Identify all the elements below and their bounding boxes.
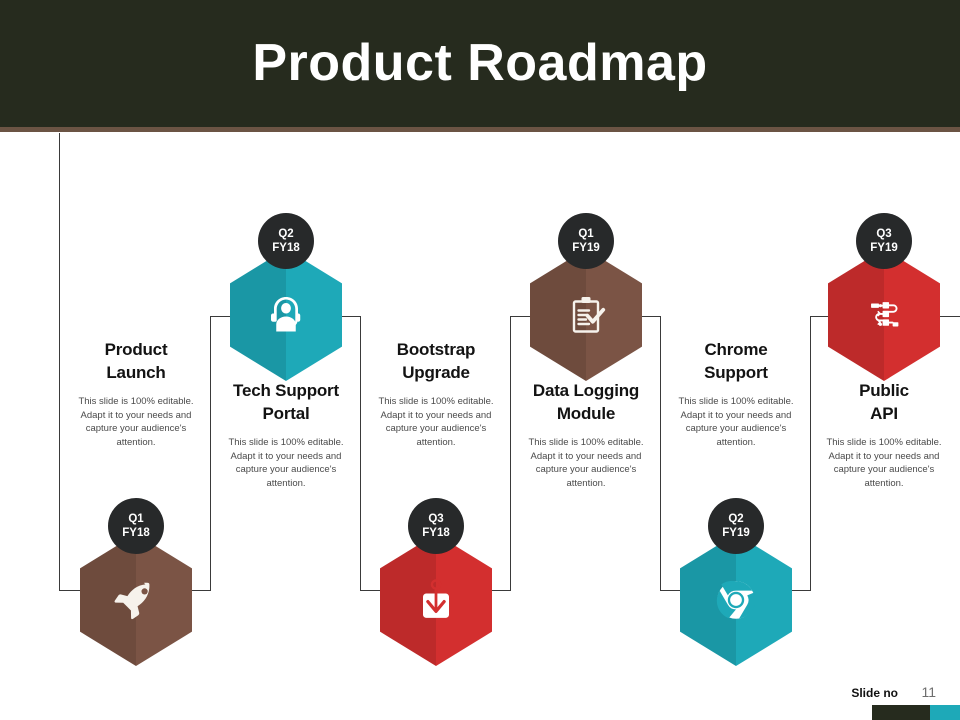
quarter-badge: Q1 FY18 — [108, 498, 164, 554]
quarter-label: Q3 — [428, 512, 443, 526]
milestone-marker-public-api[interactable]: Q3 FY19 — [808, 214, 960, 381]
quarter-label: Q3 — [876, 227, 891, 241]
milestone-description: This slide is 100% editable. Adapt it to… — [360, 395, 512, 449]
milestone-title: Public API — [808, 379, 960, 425]
milestone-tech-support-portal[interactable]: Tech Support Portal This slide is 100% e… — [210, 379, 362, 490]
fiscal-year-label: FY19 — [572, 241, 600, 255]
quarter-badge: Q2 FY18 — [258, 213, 314, 269]
quarter-label: Q1 — [578, 227, 593, 241]
milestone-title: Tech Support Portal — [210, 379, 362, 425]
fiscal-year-label: FY18 — [122, 526, 150, 540]
quarter-label: Q2 — [728, 512, 743, 526]
slide-canvas: Product Roadmap Product Launch This slid… — [0, 0, 960, 720]
milestone-title: Bootstrap Upgrade — [360, 338, 512, 384]
milestone-marker-bootstrap-upgrade[interactable]: Q3 FY18 — [360, 506, 512, 666]
milestone-data-logging-module[interactable]: Data Logging Module This slide is 100% e… — [510, 379, 662, 490]
quarter-badge: Q2 FY19 — [708, 498, 764, 554]
milestone-title: Chrome Support — [660, 338, 812, 384]
fiscal-year-label: FY18 — [272, 241, 300, 255]
quarter-badge: Q3 FY18 — [408, 498, 464, 554]
milestone-marker-tech-support-portal[interactable]: Q2 FY18 — [210, 214, 362, 381]
milestone-title: Product Launch — [60, 338, 212, 384]
quarter-badge: Q1 FY19 — [558, 213, 614, 269]
fiscal-year-label: FY18 — [422, 526, 450, 540]
milestone-chrome-support[interactable]: Chrome Support This slide is 100% editab… — [660, 338, 812, 449]
slide-number-value: 11 — [921, 684, 936, 700]
footer-bar-dark — [872, 705, 930, 720]
quarter-label: Q2 — [278, 227, 293, 241]
quarter-label: Q1 — [128, 512, 143, 526]
milestone-description: This slide is 100% editable. Adapt it to… — [60, 395, 212, 449]
page-title: Product Roadmap — [0, 31, 960, 95]
fiscal-year-label: FY19 — [870, 241, 898, 255]
slide-number-label: Slide no — [851, 686, 898, 700]
header-accent-strip — [0, 127, 960, 132]
milestone-marker-data-logging-module[interactable]: Q1 FY19 — [510, 214, 662, 381]
quarter-badge: Q3 FY19 — [856, 213, 912, 269]
milestone-marker-product-launch[interactable]: Q1 FY18 — [60, 506, 212, 666]
milestone-description: This slide is 100% editable. Adapt it to… — [210, 436, 362, 490]
milestone-description: This slide is 100% editable. Adapt it to… — [808, 436, 960, 490]
footer-bar-teal — [930, 705, 960, 720]
fiscal-year-label: FY19 — [722, 526, 750, 540]
milestone-public-api[interactable]: Public API This slide is 100% editable. … — [808, 379, 960, 490]
milestone-description: This slide is 100% editable. Adapt it to… — [660, 395, 812, 449]
milestone-description: This slide is 100% editable. Adapt it to… — [510, 436, 662, 490]
milestone-product-launch[interactable]: Product Launch This slide is 100% editab… — [60, 338, 212, 449]
milestone-bootstrap-upgrade[interactable]: Bootstrap Upgrade This slide is 100% edi… — [360, 338, 512, 449]
milestone-title: Data Logging Module — [510, 379, 662, 425]
milestone-marker-chrome-support[interactable]: Q2 FY19 — [660, 506, 812, 666]
